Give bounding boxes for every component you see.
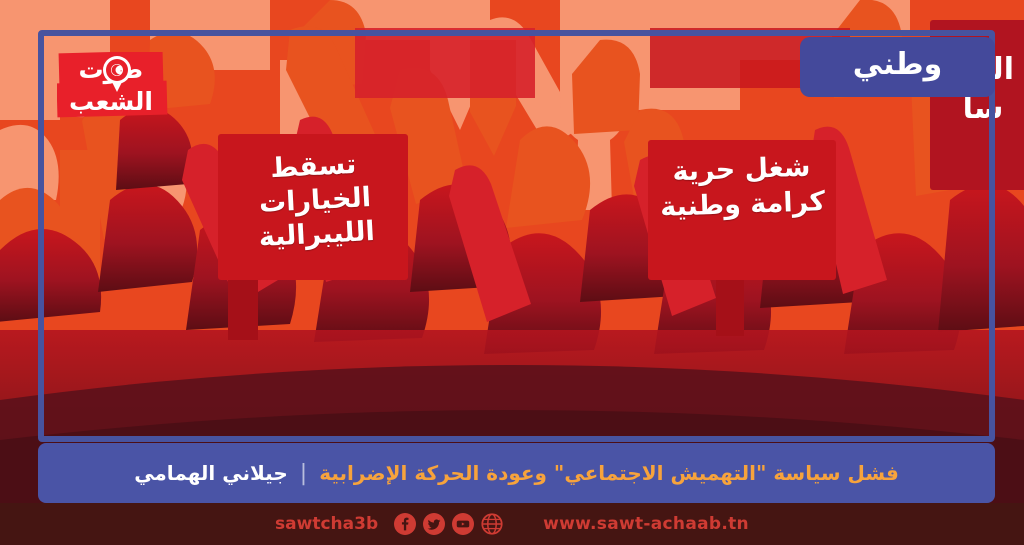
caption-bar: فشل سياسة "التهميش الاجتماعي" وعودة الحر… — [38, 443, 995, 503]
author-name: جيلاني الهمامي — [134, 461, 288, 485]
category-badge[interactable]: وطني — [800, 37, 995, 97]
social-icons — [394, 513, 503, 535]
sign-right-line2: كرامة وطنية — [656, 184, 829, 225]
twitter-icon[interactable] — [423, 513, 445, 535]
protest-sign-left-text: تسقط الخيارات الليبرالية — [223, 145, 406, 255]
headline-text: فشل سياسة "التهميش الاجتماعي" وعودة الحر… — [319, 461, 899, 485]
youtube-icon[interactable] — [452, 513, 474, 535]
sawt-achaab-logo[interactable]: صوت الشعب — [57, 52, 177, 118]
article-card: تسقط الخيارات الليبرالية شغل حرية كرامة … — [0, 0, 1024, 545]
social-handle: sawtcha3b — [275, 514, 378, 534]
protest-sign-right-text: شغل حرية كرامة وطنية — [655, 149, 829, 225]
sign-right-line1: شغل حرية — [655, 149, 828, 190]
caption-separator: | — [298, 461, 309, 486]
globe-icon[interactable] — [481, 513, 503, 535]
sign-left-line1: تسقط الخيارات — [223, 145, 404, 222]
footer-bar: sawtcha3b — [0, 503, 1024, 545]
website-url: www.sawt-achaab.tn — [543, 514, 749, 534]
svg-text:الشعب: الشعب — [69, 87, 153, 116]
facebook-icon[interactable] — [394, 513, 416, 535]
category-badge-label: وطني — [853, 50, 943, 84]
